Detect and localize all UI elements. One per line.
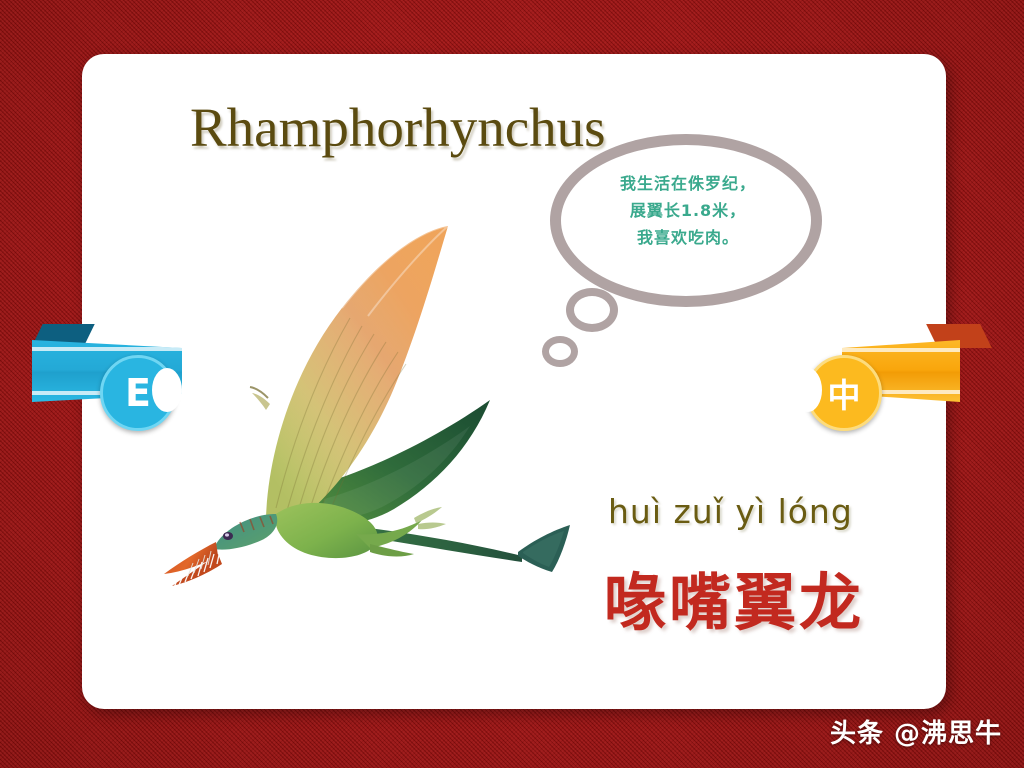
watermark: 头条 @沸思牛 — [830, 713, 1002, 750]
chinese-badge-notch — [794, 368, 822, 412]
page-title-english: Rhamphorhynchus — [190, 96, 606, 159]
species-pinyin: huì zuǐ yì lóng — [608, 492, 853, 531]
slide-canvas: Rhamphorhynchus — [0, 0, 1024, 768]
pterosaur-illustration — [118, 222, 618, 602]
species-name-chinese: 喙嘴翼龙 — [604, 552, 864, 642]
chinese-language-badge-label: 中 — [828, 369, 861, 417]
english-language-badge-label: E — [125, 371, 151, 415]
english-badge-notch — [152, 368, 182, 412]
